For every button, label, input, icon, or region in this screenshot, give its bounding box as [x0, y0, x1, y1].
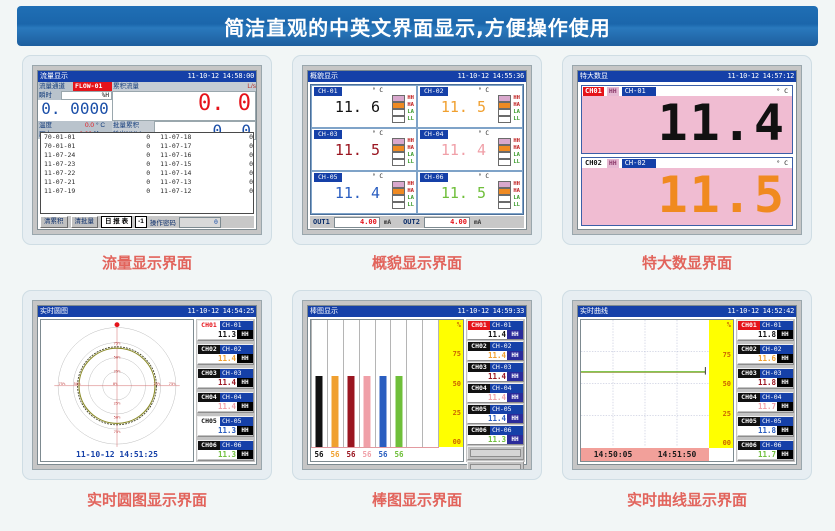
overview-cell-ch04[interactable]: CH-04 ° C 11. 4 HH HA LA LL: [417, 128, 523, 171]
overview-cell-ch01[interactable]: CH-01 ° C 11. 6 HH HA LA LL: [311, 85, 417, 128]
circlechart-lcd: 实时圆图 11-10-12 14:54:25 75%: [37, 305, 257, 465]
channel-value: 11. 6: [312, 99, 380, 116]
table-row: 11-07-21011-07-130: [41, 178, 253, 187]
clear-accumulation-button[interactable]: 清累积: [40, 216, 68, 228]
alarm-badge: HH: [777, 402, 793, 411]
alarm-badge: HH: [607, 87, 619, 96]
channel-tag: CH-02: [760, 345, 793, 354]
channel-id: CH05: [468, 405, 490, 414]
list-item[interactable]: CH03CH-03 11.8HH: [737, 368, 794, 389]
bargraph-plot[interactable]: % 75 50 25 00 56 56 56 56 56 56: [310, 319, 464, 462]
alarm-label-hh: HH: [513, 181, 520, 187]
cell-val-1: 0: [101, 133, 150, 142]
cell-date-2: 11-07-14: [150, 169, 215, 178]
list-item[interactable]: CH06CH-06 11.3HH: [467, 425, 524, 445]
alarm-label-ll: LL: [513, 116, 520, 122]
unit-label: ° C: [372, 173, 383, 180]
y-tick-0: 00: [453, 438, 461, 446]
caption-overview: 概貌显示界面: [292, 252, 542, 273]
alarm-label-hh: HH: [407, 95, 414, 101]
svg-text:75%: 75%: [58, 381, 66, 386]
overview-cell-ch06[interactable]: CH-06 ° C 11. 5 HH HA LA LL: [417, 171, 523, 214]
bargraph-lcd: 棒图显示 11-10-12 14:59:33: [307, 305, 527, 465]
alarm-box-ll: [498, 202, 511, 209]
cell-val-2: 0: [215, 142, 253, 151]
flow-screen: 流量显示 11-10-12 14:58:00 流量通道 FLOW-01: [32, 65, 262, 235]
channel-value: 11.3: [198, 450, 237, 459]
panel-flow: 流量显示 11-10-12 14:58:00 流量通道 FLOW-01: [22, 55, 272, 245]
channel-value: 11.4: [468, 330, 507, 339]
channel-tag: CH-05: [760, 417, 793, 426]
alarm-label-ll: LL: [407, 116, 414, 122]
bar-value-ch08: [423, 448, 439, 461]
alarm-box-ha: [392, 188, 405, 195]
alarm-indicators: HH HA LA LL: [392, 181, 414, 208]
table-row: 11-07-22011-07-140: [41, 169, 253, 178]
cell-val-1: 0: [101, 169, 150, 178]
alarm-badge: HH: [237, 330, 253, 339]
bargraph-screen: 棒图显示 11-10-12 14:59:33: [302, 300, 532, 470]
svg-text:75%: 75%: [169, 381, 177, 386]
alarm-badge: HH: [777, 330, 793, 339]
unit-label: ° C: [372, 130, 383, 137]
cell-val-2: 0: [215, 133, 253, 142]
channel-value: 11.3: [198, 426, 237, 435]
bargraph-timestamp: 11-10-12 14:59:33: [457, 306, 524, 317]
channel-tag: CH-06: [420, 173, 448, 182]
bignumber-titlebar: 特大数显 11-10-12 14:57:12: [578, 71, 796, 82]
alarm-box-la: [392, 195, 405, 202]
panel-trend: 实时曲线 11-10-12 14:52:42: [562, 290, 812, 480]
overview-body: CH-01 ° C 11. 6 HH HA LA LL CH-02 ° C: [308, 82, 526, 229]
alarm-box-ll: [392, 116, 405, 123]
alarm-badge: HH: [777, 426, 793, 435]
channel-tag: CH-06: [490, 426, 523, 435]
trend-time-end: 14:51:50: [658, 450, 697, 459]
overview-title: 概貌显示: [310, 71, 338, 82]
channel-id: CH03: [738, 369, 760, 378]
channel-tag: CH-02: [420, 87, 448, 96]
flow-body: 流量通道 FLOW-01 累积流量 L/s 瞬时: [38, 82, 256, 229]
panel-bargraph: 棒图显示 11-10-12 14:59:33: [292, 290, 542, 480]
trend-grid: [581, 320, 709, 447]
channel-tag: CH-01: [314, 87, 342, 96]
y-tick-75: 75: [453, 350, 461, 358]
alarm-box-hh: [498, 138, 511, 145]
alarm-label-la: LA: [513, 152, 520, 158]
channel-id: CH04: [468, 384, 490, 393]
list-item[interactable]: CH01CH-01 11.3HH: [197, 320, 254, 341]
list-item[interactable]: CH05CH-05 11.3HH: [197, 416, 254, 437]
channel-tag: CH-02: [490, 342, 523, 351]
cell-date-2: 11-07-17: [150, 142, 215, 151]
alarm-badge: HH: [237, 354, 253, 363]
alarm-badge: HH: [777, 354, 793, 363]
password-label: 操作密码: [150, 217, 176, 227]
svg-text:0%: 0%: [113, 381, 118, 386]
list-item[interactable]: CH04CH-04 11.4HH: [197, 392, 254, 413]
channel-value: 11.4: [468, 393, 507, 402]
table-row: 11-07-19011-07-120: [41, 187, 253, 196]
cell-date-1: 11-07-21: [41, 178, 101, 187]
y-tick-25: 25: [723, 410, 731, 418]
table-row: 70-01-01011-07-180: [41, 133, 253, 142]
overview-cell-ch02[interactable]: CH-02 ° C 11. 5 HH HA LA LL: [417, 85, 523, 128]
list-item[interactable]: CH02CH-02 11.4HH: [467, 341, 524, 361]
circlechart-footer-time: 11-10-12 14:51:25: [41, 450, 193, 459]
channel-id: CH03: [198, 369, 220, 378]
trend-screen: 实时曲线 11-10-12 14:52:42: [572, 300, 802, 470]
alarm-badge: HH: [777, 450, 793, 459]
channel-id: CH01: [738, 321, 760, 330]
alarm-label-ha: HA: [407, 188, 414, 194]
svg-text:50%: 50%: [114, 415, 122, 420]
bignumber-screen: 特大数显 11-10-12 14:57:12 CH01 HH CH-01 ° C…: [572, 65, 802, 235]
alarm-label-ha: HA: [407, 145, 414, 151]
list-item-empty[interactable]: [467, 461, 524, 470]
bignumber-boxes: CH01 HH CH-01 ° C 11.4 CH02 HH CH-02 ° C: [581, 85, 793, 226]
channel-id: CH06: [738, 441, 760, 450]
list-item[interactable]: CH02CH-02 11.4HH: [197, 344, 254, 365]
bignumber-body: CH01 HH CH-01 ° C 11.4 CH02 HH CH-02 ° C: [578, 82, 796, 229]
channel-tag: CH-01: [490, 321, 523, 330]
list-item[interactable]: CH04CH-04 11.7HH: [737, 392, 794, 413]
out2-label: OUT2: [403, 218, 420, 226]
channel-tag: CH-01: [220, 321, 253, 330]
bar-lane: [423, 320, 439, 447]
alarm-label-hh: HH: [407, 138, 414, 144]
channel-tag: CH-05: [490, 405, 523, 414]
svg-text:75%: 75%: [114, 340, 122, 345]
y-tick-0: 00: [723, 439, 731, 447]
channel-value: 11. 4: [312, 185, 380, 202]
list-item[interactable]: CH03CH-03 11.4HH: [467, 362, 524, 382]
alarm-box-ll: [498, 116, 511, 123]
cell-date-2: 11-07-15: [150, 160, 215, 169]
bar-lanes: [311, 320, 439, 447]
alarm-badge: HH: [507, 330, 523, 339]
polar-plot[interactable]: 75% 50% 25% 0% 25% 50% 75% 75% 50% 25% 7…: [40, 319, 194, 462]
overview-cell-ch03[interactable]: CH-03 ° C 11. 5 HH HA LA LL: [311, 128, 417, 171]
circlechart-timestamp: 11-10-12 14:54:25: [187, 306, 254, 317]
trend-body: % 75 50 25 00 14:50:05 14:51:50 CH01CH-0…: [578, 317, 796, 464]
bar-ch01: [316, 376, 323, 447]
out1-label: OUT1: [313, 218, 330, 226]
alarm-label-ha: HA: [513, 102, 520, 108]
cell-val-2: 0: [215, 160, 253, 169]
alarm-indicators: HH HA LA LL: [498, 138, 520, 165]
channel-tag: CH-04: [420, 130, 448, 139]
flow-readouts: 流量通道 FLOW-01 累积流量 L/s 瞬时: [38, 82, 256, 130]
list-item[interactable]: CH03CH-03 11.4HH: [197, 368, 254, 389]
alarm-label-la: LA: [513, 195, 520, 201]
bar-value-ch04: 56: [359, 448, 375, 461]
alarm-badge: HH: [237, 402, 253, 411]
channel-value: 11.4: [198, 354, 237, 363]
alarm-badge: HH: [507, 414, 523, 423]
bar-value-ch07: [407, 448, 423, 461]
channel-tag: CH-03: [220, 369, 253, 378]
cell-val-2: 0: [215, 169, 253, 178]
alarm-badge: HH: [237, 378, 253, 387]
out1-value: 4.00: [334, 217, 380, 228]
overview-screen: 概貌显示 11-10-12 14:55:36 CH-01 ° C 11. 6 H…: [302, 65, 532, 235]
alarm-indicators: HH HA LA LL: [392, 138, 414, 165]
trend-plot[interactable]: % 75 50 25 00 14:50:05 14:51:50: [580, 319, 734, 462]
bar-lane: [311, 320, 328, 447]
list-item[interactable]: CH01CH-01 11.4HH: [467, 320, 524, 340]
channel-id: CH02: [198, 345, 220, 354]
channel-value: 11.8: [738, 426, 777, 435]
channel-tag: CH-01: [622, 87, 656, 96]
channel-value: 11.8: [738, 330, 777, 339]
trend-time-axis: 14:50:05 14:51:50: [581, 448, 709, 461]
alarm-badge: HH: [507, 351, 523, 360]
alarm-label-ll: LL: [513, 202, 520, 208]
channel-value: 11.4: [468, 351, 507, 360]
channel-id: CH06: [198, 441, 220, 450]
overview-cell-ch05[interactable]: CH-05 ° C 11. 4 HH HA LA LL: [311, 171, 417, 214]
channel-tag: CH-04: [220, 393, 253, 402]
caption-bignumber: 特大数显界面: [562, 252, 812, 273]
bargraph-title: 棒图显示: [310, 306, 338, 317]
cell-date-2: 11-07-12: [150, 187, 215, 196]
list-item[interactable]: CH06CH-06 11.7HH: [737, 440, 794, 461]
svg-text:75%: 75%: [114, 429, 122, 434]
bignumber-lcd: 特大数显 11-10-12 14:57:12 CH01 HH CH-01 ° C…: [577, 70, 797, 230]
overview-grid: CH-01 ° C 11. 6 HH HA LA LL CH-02 ° C: [310, 84, 524, 215]
panel-circlechart: 实时圆图 11-10-12 14:54:25 75%: [22, 290, 272, 480]
list-item[interactable]: CH02CH-02 11.6HH: [737, 344, 794, 365]
flow-channel-label: 流量通道: [38, 82, 73, 91]
channel-tag: CH-04: [490, 384, 523, 393]
list-item-empty[interactable]: [467, 446, 524, 460]
alarm-box-ha: [498, 145, 511, 152]
trend-y-axis: % 75 50 25 00: [709, 320, 733, 448]
table-row: 70-01-01011-07-170: [41, 142, 253, 151]
page-banner: 简洁直观的中英文界面显示,方便操作使用: [17, 6, 818, 46]
svg-text:50%: 50%: [114, 355, 122, 360]
alarm-label-ll: LL: [407, 159, 414, 165]
cell-date-1: 11-07-24: [41, 151, 101, 160]
flow-title: 流量显示: [40, 71, 68, 82]
bar-value-ch01: 56: [311, 448, 327, 461]
y-tick-unit: %: [457, 321, 461, 329]
bignumber-title: 特大数显: [580, 71, 608, 82]
channel-id: CH03: [468, 363, 490, 372]
overview-outputs: OUT1 4.00 mA OUT2 4.00 mA: [310, 216, 524, 228]
circlechart-titlebar: 实时圆图 11-10-12 14:54:25: [38, 306, 256, 317]
y-tick-50: 50: [453, 380, 461, 388]
channel-value: 11.3: [468, 435, 507, 444]
bar-ch06: [395, 376, 402, 447]
bar-ch03: [348, 376, 355, 447]
daily-report-button[interactable]: 日 报 表: [101, 216, 132, 228]
cell-val-1: 0: [101, 187, 150, 196]
list-item[interactable]: CH06CH-06 11.3HH: [197, 440, 254, 461]
cell-val-1: 0: [101, 142, 150, 151]
bargraph-titlebar: 棒图显示 11-10-12 14:59:33: [308, 306, 526, 317]
alarm-label-hh: HH: [513, 138, 520, 144]
flow-titlebar: 流量显示 11-10-12 14:58:00: [38, 71, 256, 82]
svg-text:50%: 50%: [74, 381, 82, 386]
password-input[interactable]: 0: [179, 217, 221, 228]
channel-value: 11. 4: [418, 142, 486, 159]
alarm-label-hh: HH: [407, 181, 414, 187]
alarm-badge: HH: [507, 372, 523, 381]
bignumber-box-ch02[interactable]: CH02 HH CH-02 ° C 11.5: [581, 157, 793, 226]
overview-timestamp: 11-10-12 14:55:36: [457, 71, 524, 82]
alarm-box-hh: [392, 138, 405, 145]
alarm-indicators: HH HA LA LL: [498, 181, 520, 208]
page-stepper-button[interactable]: -1: [135, 216, 147, 228]
channel-id: CH01: [583, 87, 604, 96]
alarm-box-ha: [498, 102, 511, 109]
bar-lane: [407, 320, 423, 447]
flow-channel-tag[interactable]: FLOW-01: [73, 82, 112, 91]
bignumber-box-ch01[interactable]: CH01 HH CH-01 ° C 11.4: [581, 85, 793, 154]
alarm-label-la: LA: [407, 152, 414, 158]
y-tick-75: 75: [723, 351, 731, 359]
y-tick-unit: %: [727, 321, 731, 329]
bar-value-ch02: 56: [327, 448, 343, 461]
cell-date-2: 11-07-16: [150, 151, 215, 160]
alarm-indicators: HH HA LA LL: [392, 95, 414, 122]
alarm-label-la: LA: [407, 109, 414, 115]
channel-id: CH01: [468, 321, 490, 330]
circlechart-title: 实时圆图: [40, 306, 68, 317]
out1-unit: mA: [384, 219, 391, 226]
channel-tag: CH-01: [760, 321, 793, 330]
list-item[interactable]: CH01CH-01 11.8HH: [737, 320, 794, 341]
clear-batch-button[interactable]: 清批量: [71, 216, 99, 228]
flow-timestamp: 11-10-12 14:58:00: [187, 71, 254, 82]
bar-lane: [376, 320, 392, 447]
cell-val-1: 0: [101, 160, 150, 169]
trend-title: 实时曲线: [580, 306, 608, 317]
alarm-badge: HH: [607, 159, 619, 168]
bar-ch02: [332, 376, 339, 447]
cell-val-2: 0: [215, 151, 253, 160]
caption-circlechart: 实时圆图显示界面: [22, 489, 272, 510]
bar-ch05: [379, 376, 386, 447]
alarm-box-hh: [392, 95, 405, 102]
alarm-box-hh: [392, 181, 405, 188]
channel-value: 11. 5: [418, 99, 486, 116]
overview-lcd: 概貌显示 11-10-12 14:55:36 CH-01 ° C 11. 6 H…: [307, 70, 527, 230]
cell-date-1: 70-01-01: [41, 133, 101, 142]
circlechart-channel-list: CH01CH-01 11.3HH CH02CH-02 11.4HH CH03CH…: [196, 319, 255, 462]
channel-value: 11.4: [198, 378, 237, 387]
flow-accum-label: 累积流量: [112, 82, 237, 91]
banner-title: 简洁直观的中英文界面显示,方便操作使用: [224, 12, 611, 41]
svg-text:25%: 25%: [114, 369, 122, 374]
flow-temp-label: 温度: [38, 121, 61, 130]
cell-date-2: 11-07-18: [150, 133, 215, 142]
cell-val-2: 0: [215, 178, 253, 187]
list-item[interactable]: CH05CH-05 11.4HH: [467, 404, 524, 424]
cell-date-2: 11-07-13: [150, 178, 215, 187]
channel-value: 11.7: [738, 450, 777, 459]
trend-lcd: 实时曲线 11-10-12 14:52:42: [577, 305, 797, 465]
y-tick-50: 50: [723, 380, 731, 388]
channel-tag: CH-06: [220, 441, 253, 450]
channel-value: 11.7: [738, 402, 777, 411]
channel-value: 11.6: [738, 354, 777, 363]
caption-bargraph: 棒图显示界面: [292, 489, 542, 510]
cell-date-1: 11-07-19: [41, 187, 101, 196]
channel-value: 11.4: [468, 372, 507, 381]
channel-id: CH04: [198, 393, 220, 402]
list-item[interactable]: CH04CH-04 11.4HH: [467, 383, 524, 403]
channel-tag: CH-04: [760, 393, 793, 402]
panel-overview: 概貌显示 11-10-12 14:55:36 CH-01 ° C 11. 6 H…: [292, 55, 542, 245]
overview-titlebar: 概貌显示 11-10-12 14:55:36: [308, 71, 526, 82]
trend-channel-list: CH01CH-01 11.8HH CH02CH-02 11.6HH CH03CH…: [736, 319, 795, 462]
svg-text:25%: 25%: [114, 401, 122, 406]
alarm-label-la: LA: [513, 109, 520, 115]
flow-history-table[interactable]: 70-01-01011-07-180 70-01-01011-07-170 11…: [40, 132, 254, 214]
bargraph-channel-list: CH01CH-01 11.4HH CH02CH-02 11.4HH CH03CH…: [466, 319, 525, 462]
channel-id: CH05: [198, 417, 220, 426]
out2-unit: mA: [474, 219, 481, 226]
flow-toolbar: 清累积 清批量 日 报 表 -1 操作密码 0: [40, 216, 254, 228]
list-item[interactable]: CH05CH-05 11.8HH: [737, 416, 794, 437]
alarm-box-ll: [392, 202, 405, 209]
caption-trend: 实时曲线显示界面: [562, 489, 812, 510]
bar-lane: [328, 320, 344, 447]
channel-id: CH02: [583, 159, 604, 168]
flow-temp-unit: ° C: [95, 121, 112, 130]
bargraph-y-axis: % 75 50 25 00: [439, 320, 463, 447]
bar-ch04: [364, 376, 371, 447]
polar-chart-svg: 75% 50% 25% 0% 25% 50% 75% 75% 50% 25% 7…: [41, 320, 193, 461]
channel-tag: CH-06: [760, 441, 793, 450]
flow-batch-label: 批量累积: [112, 121, 154, 130]
bignumber-timestamp: 11-10-12 14:57:12: [727, 71, 794, 82]
svg-text:25%: 25%: [153, 381, 161, 386]
alarm-label-ha: HA: [407, 102, 414, 108]
unit-label: ° C: [478, 130, 489, 137]
channel-value: 11.8: [738, 378, 777, 387]
alarm-box-la: [392, 109, 405, 116]
channel-tag: CH-03: [490, 363, 523, 372]
caption-flow: 流量显示界面: [22, 252, 272, 273]
cell-date-1: 11-07-23: [41, 160, 101, 169]
y-tick-25: 25: [453, 409, 461, 417]
trend-time-start: 14:50:05: [594, 450, 633, 459]
alarm-box-ha: [392, 145, 405, 152]
bar-value-ch03: 56: [343, 448, 359, 461]
bar-value-ch06: 56: [391, 448, 407, 461]
channel-id: CH06: [468, 426, 490, 435]
channel-tag: CH-05: [314, 173, 342, 182]
channel-value: 11.4: [198, 402, 237, 411]
channel-value: 11.3: [198, 330, 237, 339]
alarm-box-ll: [498, 159, 511, 166]
channel-tag: CH-02: [220, 345, 253, 354]
panel-bignumber: 特大数显 11-10-12 14:57:12 CH01 HH CH-01 ° C…: [562, 55, 812, 245]
channel-id: CH02: [468, 342, 490, 351]
out2-value: 4.00: [424, 217, 470, 228]
flow-accum-value: 0. 0: [113, 92, 255, 116]
trend-timestamp: 11-10-12 14:52:42: [727, 306, 794, 317]
unit-label: ° C: [478, 173, 489, 180]
alarm-label-ha: HA: [513, 188, 520, 194]
channel-tag: CH-03: [314, 130, 342, 139]
circlechart-body: 75% 50% 25% 0% 25% 50% 75% 75% 50% 25% 7…: [38, 317, 256, 464]
alarm-box-la: [498, 195, 511, 202]
